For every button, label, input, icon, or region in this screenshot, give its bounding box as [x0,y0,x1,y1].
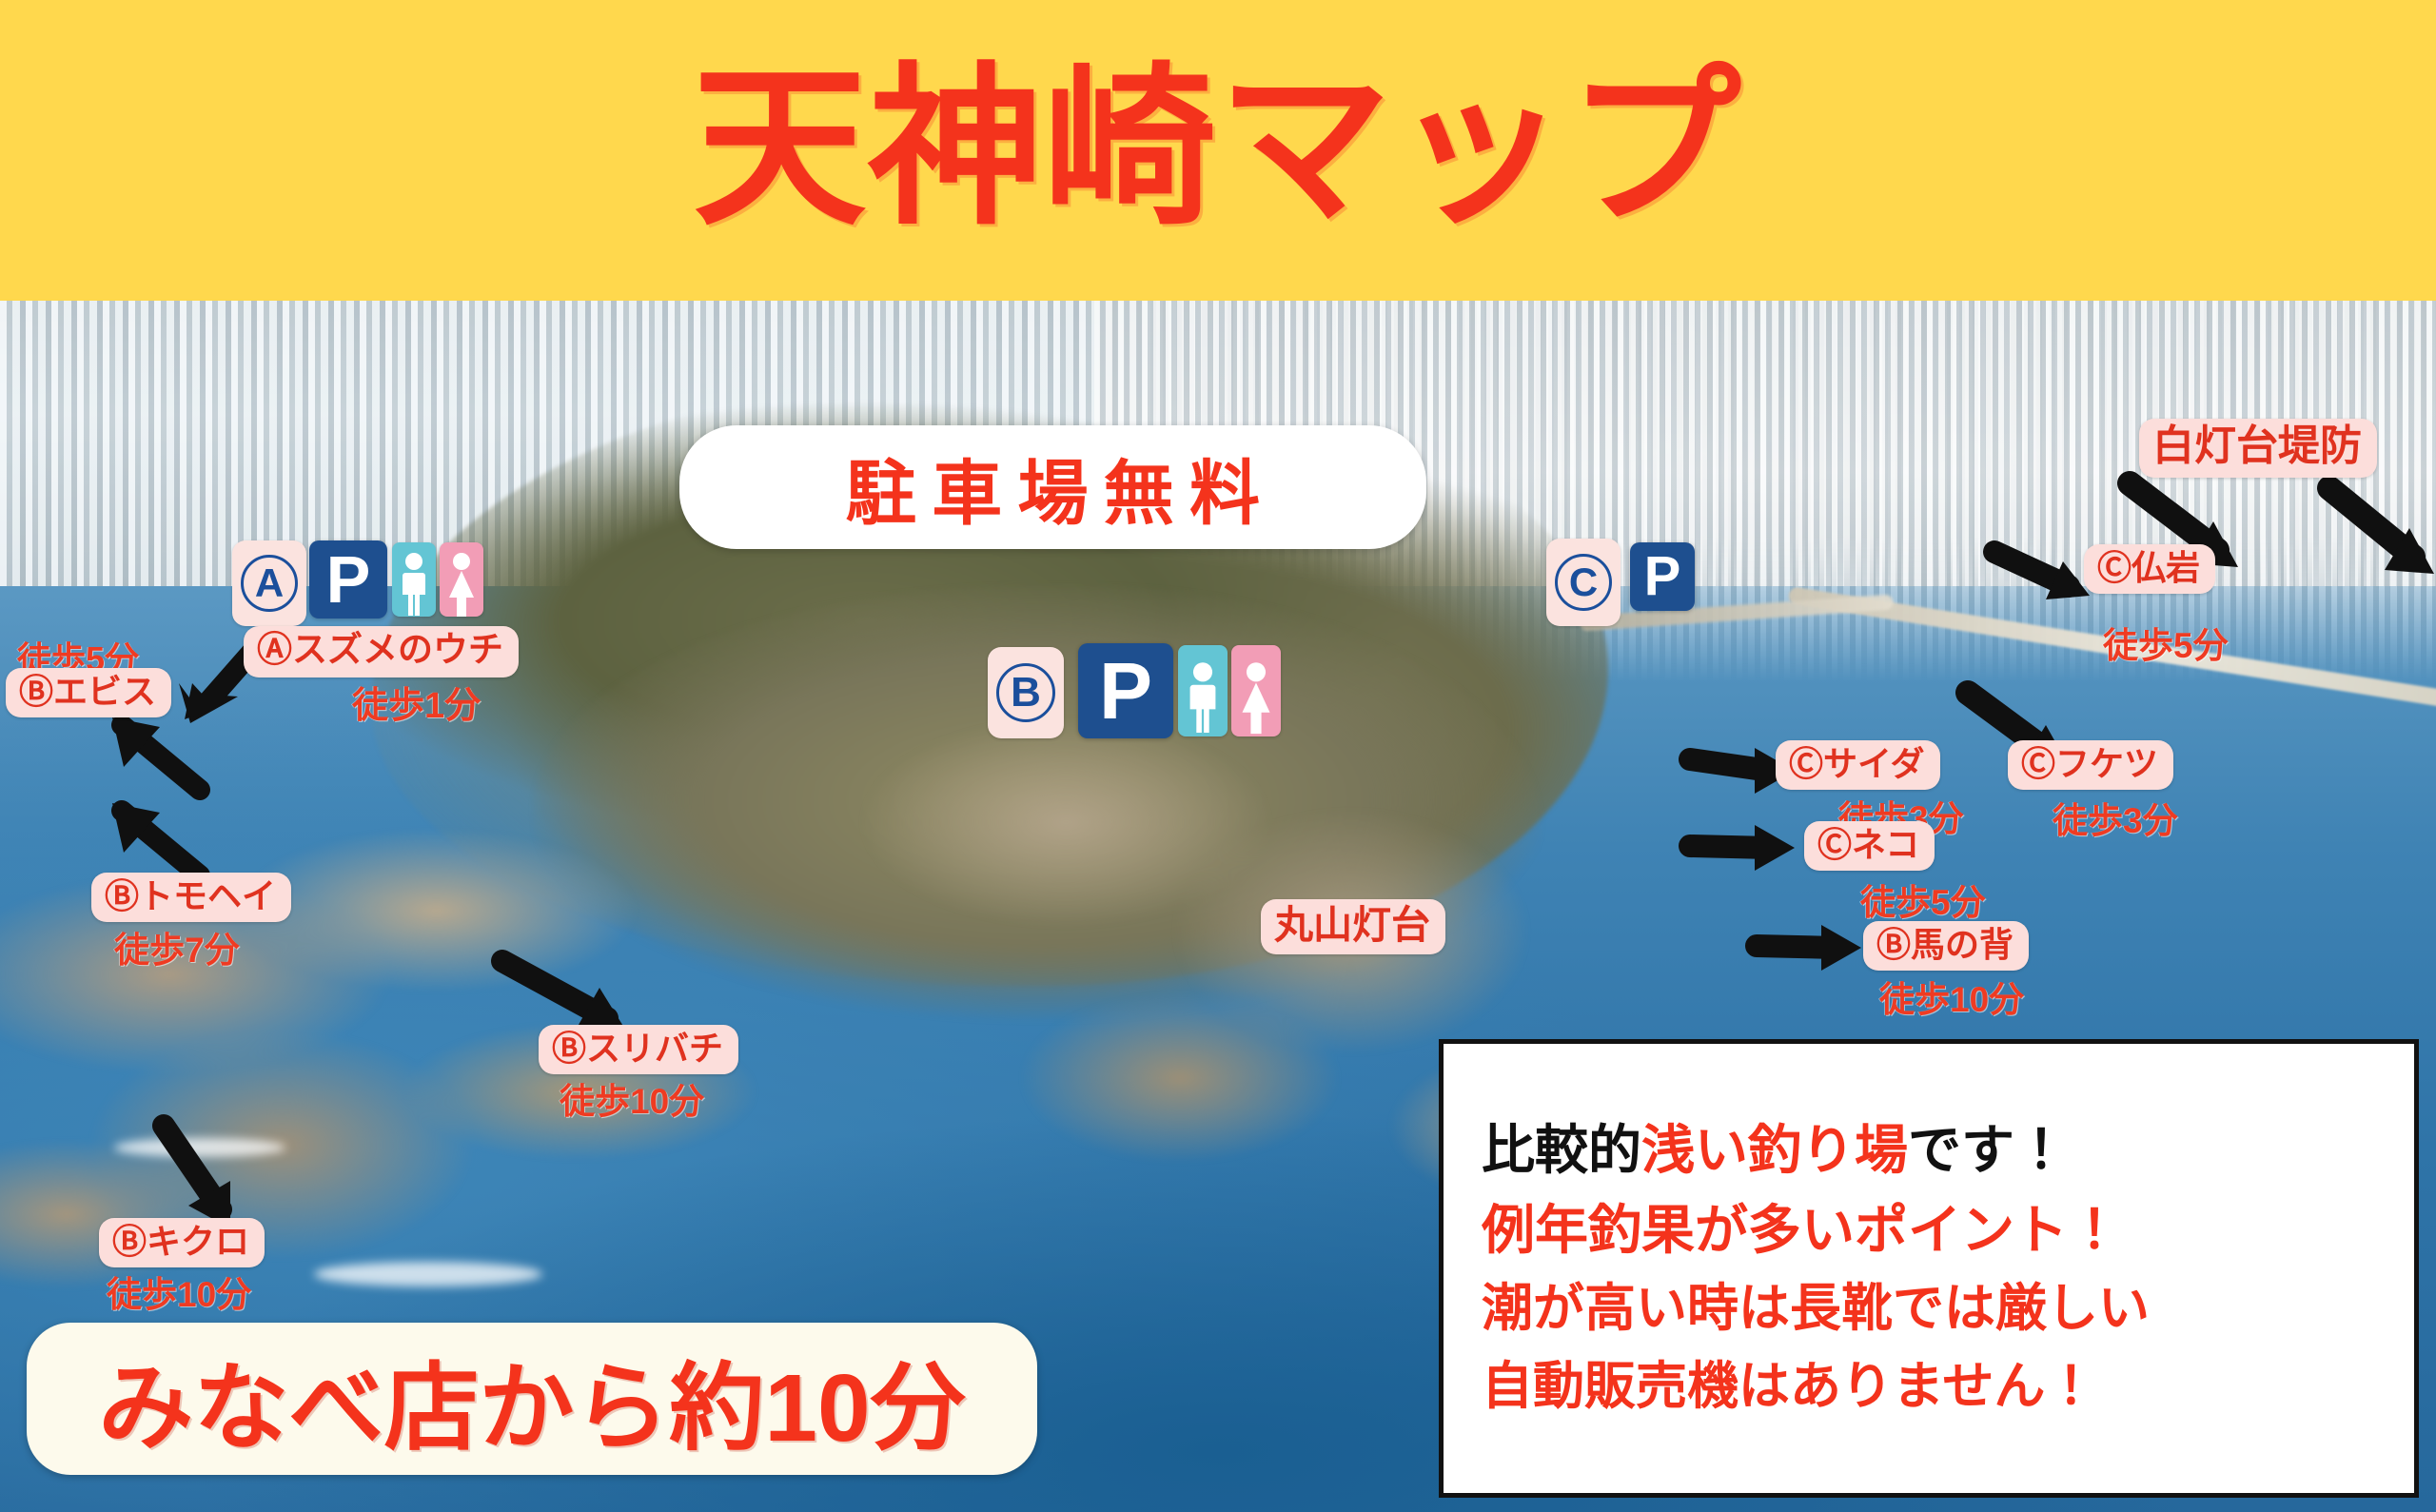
surf-streak [114,1138,285,1157]
spot-label-hotokeiwa[interactable]: Ⓒ仏岩 [2084,544,2215,594]
spot-label-fuketsu[interactable]: Ⓒフケツ [2008,740,2173,790]
circled-letter-b: B [996,663,1055,722]
spot-label-neko[interactable]: Ⓒネコ [1804,821,1935,871]
spot-label-umanose[interactable]: Ⓑ馬の背 [1863,921,2029,971]
note-line-1: 比較的浅い釣り場です！ [1482,1119,2376,1182]
walk-time-hotokeiwa: 徒歩5分 [2103,617,2229,668]
note-line-1-suffix: です！ [1908,1120,2068,1180]
fishing-notes-box: 比較的浅い釣り場です！ 例年釣果が多いポイント！ 潮が高い時は長靴では厳しい 自… [1439,1039,2419,1498]
walk-time-tomohei: 徒歩7分 [114,921,240,972]
spot-label-kikuro[interactable]: Ⓑキクロ [99,1218,265,1267]
walk-time-neko: 徒歩5分 [1860,874,1986,925]
page-title: 天神崎マップ [694,61,1743,234]
poster-header: 天神崎マップ [0,0,2436,301]
note-line-2: 例年釣果が多いポイント！ [1482,1199,2376,1262]
note-line-3: 潮が高い時は長靴では厳しい [1482,1279,2376,1340]
parking-icon-b: P [1078,643,1173,738]
walk-time-fuketsu: 徒歩3分 [2053,792,2178,843]
male-toilet-icon-a [392,542,436,617]
walk-time-suzume-no-uchi: 徒歩1分 [352,676,481,728]
map-poster: 天神崎マップ [0,0,2436,1512]
area-marker-c[interactable]: C [1546,539,1621,626]
male-toilet-icon-b [1178,645,1228,736]
store-distance-label: みなべ店から約10分 [98,1330,965,1468]
area-marker-b[interactable]: B [988,647,1064,738]
spot-label-saida[interactable]: Ⓒサイダ [1776,740,1940,790]
spot-label-ebisu[interactable]: Ⓑエビス [6,668,171,717]
walk-time-kikuro: 徒歩10分 [107,1266,251,1317]
landmark-label-maruyama-todai[interactable]: 丸山灯台 [1261,899,1445,954]
spot-label-suzume-no-uchi[interactable]: Ⓐスズメのウチ [244,626,519,677]
landmark-label-shirotodai-teibo[interactable]: 白灯台堤防 [2139,419,2377,478]
surf-streak [314,1262,542,1286]
parking-icon-c: P [1630,542,1695,611]
circled-letter-a: A [241,555,298,612]
note-line-1-prefix: 比較的 [1482,1120,1641,1180]
free-parking-badge: 駐車場無料 [679,425,1426,549]
parking-icon-a: P [309,540,387,619]
free-parking-label: 駐車場無料 [831,437,1276,539]
note-line-1-highlight: 浅い釣り場 [1641,1120,1908,1180]
walk-time-umanose: 徒歩10分 [1879,971,2024,1022]
circled-letter-c: C [1555,554,1612,611]
female-toilet-icon-a [440,542,483,617]
spot-label-suribachi[interactable]: Ⓑスリバチ [539,1025,738,1074]
note-line-4: 自動販売機はありません！ [1482,1357,2376,1418]
walk-time-suribachi: 徒歩10分 [560,1072,704,1124]
female-toilet-icon-b [1231,645,1281,736]
store-distance-banner: みなべ店から約10分 [27,1323,1037,1475]
area-marker-a[interactable]: A [232,540,306,626]
spot-label-tomohei[interactable]: Ⓑトモヘイ [91,873,291,922]
